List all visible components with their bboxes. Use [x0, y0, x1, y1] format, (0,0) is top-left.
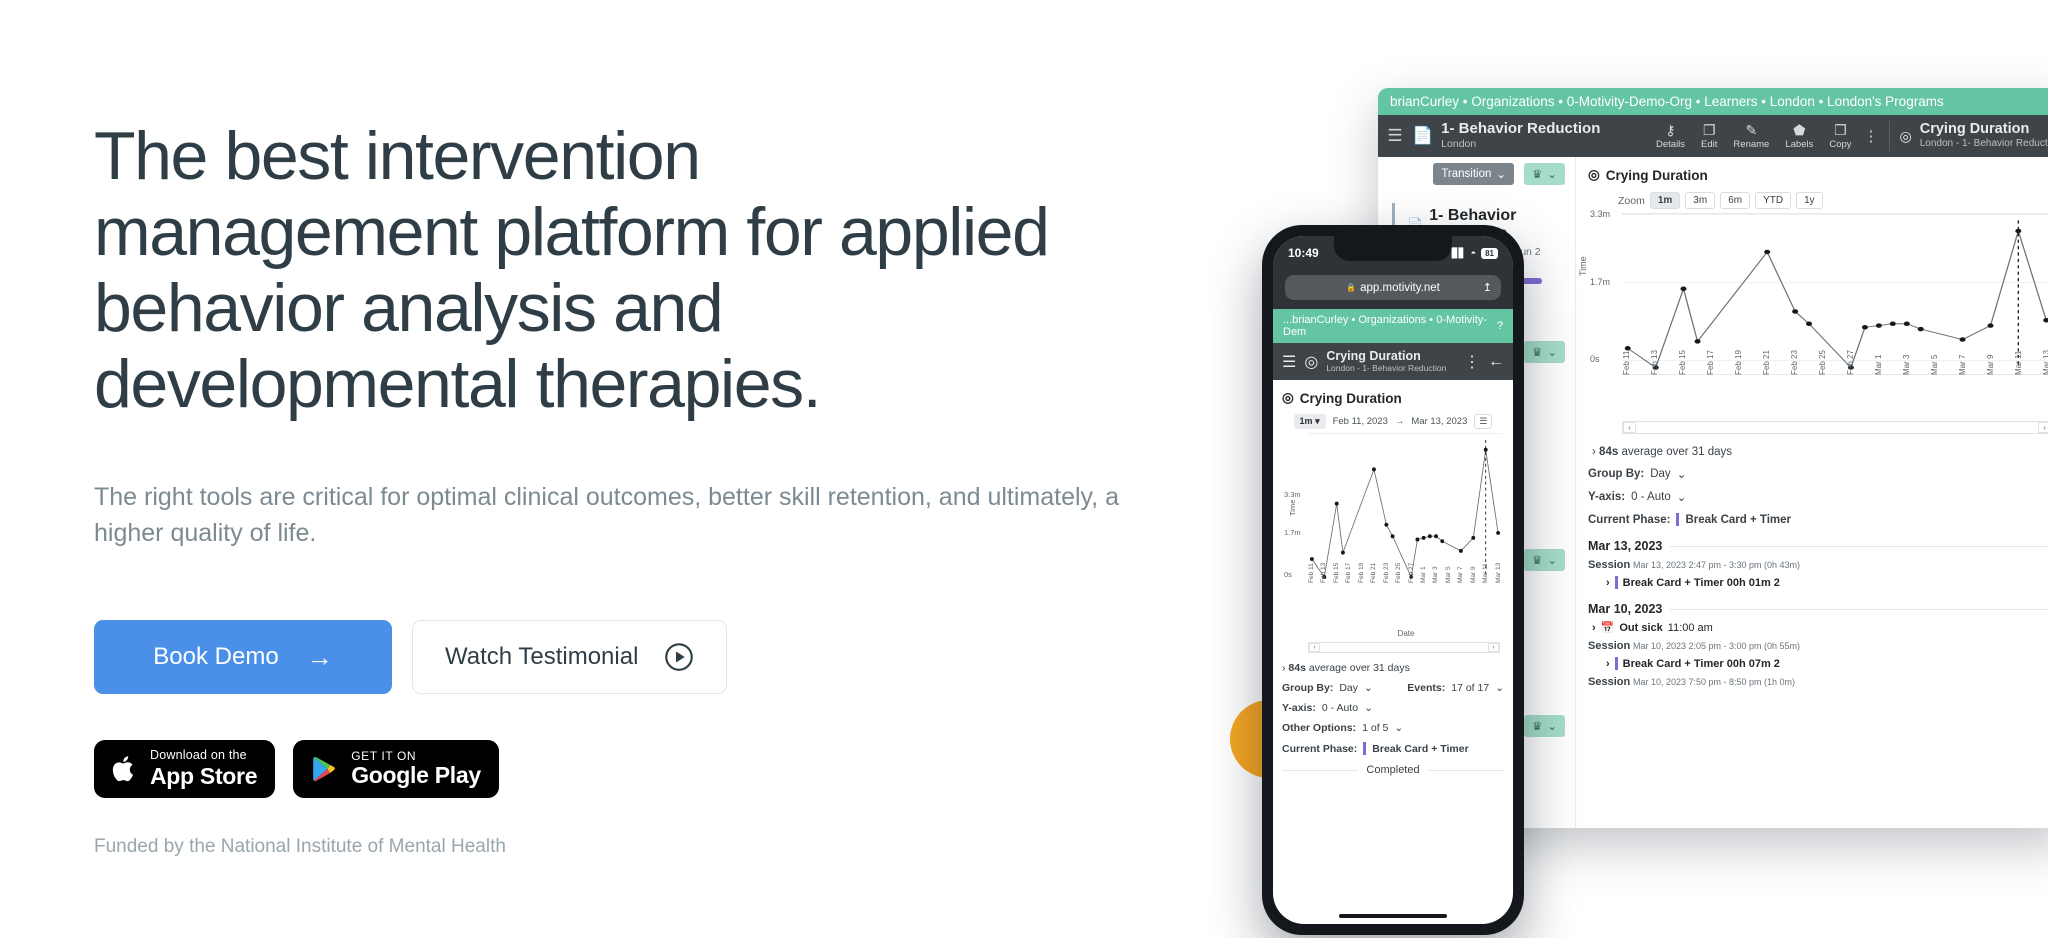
chip-transition[interactable]: Transition ⌄	[1433, 163, 1514, 185]
x-axis-title: Date	[1308, 629, 1504, 638]
phase-color-swatch	[1615, 657, 1618, 670]
session-label: Session	[1588, 640, 1630, 652]
session-day-label: Mar 10, 2023	[1588, 602, 1662, 616]
session-phase-label: Break Card + Timer 00h 07m 2	[1623, 658, 1780, 670]
hero-page: The best intervention management platfor…	[0, 0, 2048, 938]
session-detail: Mar 10, 2023 2:05 pm - 3:00 pm (0h 55m)	[1633, 641, 1800, 651]
y-tick-top: 3.3m	[1590, 209, 1610, 219]
phone-average-value: 84s	[1288, 662, 1306, 674]
completed-divider: Completed	[1282, 764, 1504, 776]
phone-home-indicator	[1339, 914, 1447, 918]
y-axis-label: Y-axis:	[1588, 491, 1625, 503]
chip-trophy-3[interactable]: ♛ ⌄	[1524, 549, 1565, 571]
app-store-badge[interactable]: Download on the App Store	[94, 740, 275, 798]
help-icon[interactable]: ?	[1497, 320, 1503, 332]
detail-panel-subtitle: London - 1- Behavior Reduction	[1920, 138, 2048, 150]
range-start[interactable]: Feb 11, 2023	[1333, 416, 1388, 427]
cta-row: Book Demo → Watch Testimonial	[94, 620, 1244, 694]
average-value: 84s	[1599, 446, 1618, 458]
funding-note: Funded by the National Institute of Ment…	[94, 836, 1244, 858]
arrow-right-icon: →	[307, 644, 333, 670]
y-tick-mid: 1.7m	[1590, 277, 1610, 287]
phone-average-text: average over 31 days	[1309, 662, 1410, 674]
group-by-value: Day	[1650, 468, 1670, 480]
back-icon[interactable]: ←	[1488, 353, 1504, 371]
chart-title: Crying Duration	[1606, 168, 1708, 183]
url-text: app.motivity.net	[1360, 282, 1440, 294]
status-time: 10:49	[1288, 246, 1319, 260]
phone-chart-svg	[1308, 434, 1502, 583]
edit-label: Edit	[1701, 139, 1717, 150]
expand-chevron-icon[interactable]: ›	[1592, 622, 1596, 634]
trophy-icon: ♛	[1532, 553, 1542, 567]
chevron-down-icon: ⌄	[1364, 682, 1373, 694]
note-label: Out sick	[1619, 622, 1662, 634]
phone-chart-plot[interactable]: 3.3m 1.7m 0s Time	[1308, 433, 1502, 583]
labels-button[interactable]: ⬟ Labels	[1785, 123, 1813, 150]
chip-trophy-4[interactable]: ♛ ⌄	[1524, 715, 1565, 737]
rename-icon: ✎	[1746, 123, 1758, 137]
store-badges: Download on the App Store GET IT ON Goog…	[94, 740, 1244, 798]
detail-panel-title: Crying Duration	[1920, 122, 2048, 138]
rename-label: Rename	[1733, 139, 1769, 150]
labels-label: Labels	[1785, 139, 1813, 150]
page-title: The best intervention management platfor…	[94, 118, 1054, 423]
expand-chevron-icon[interactable]: ›	[1592, 446, 1596, 458]
breadcrumb[interactable]: brianCurley • Organizations • 0-Motivity…	[1378, 88, 2048, 115]
y-axis-control[interactable]: Y-axis: 0 - Auto ⌄	[1588, 490, 2048, 504]
status-indicators: ▊▋ ◓ 81	[1452, 248, 1498, 259]
divider	[1670, 546, 2048, 547]
document-icon: 📄	[1412, 126, 1433, 146]
divider	[1670, 609, 2048, 610]
target-icon: ◎	[1900, 128, 1912, 145]
program-title: 1- Behavior Reduction	[1441, 121, 1600, 138]
y-axis-value: 0 - Auto	[1322, 702, 1358, 714]
note-time: 11:00 am	[1668, 622, 1713, 634]
zoom-label: Zoom	[1618, 195, 1645, 207]
trophy-icon: ♛	[1532, 345, 1542, 359]
phone-date-range-row: 1m ▾ Feb 11, 2023 → Mar 13, 2023 ☰	[1282, 414, 1504, 429]
scroll-left-button[interactable]: ‹	[1309, 643, 1320, 652]
edit-button[interactable]: ❐ Edit	[1701, 123, 1717, 150]
details-label: Details	[1656, 139, 1685, 150]
google-play-big-label: Google Play	[351, 763, 481, 787]
transition-chip-row: Transition ⌄ ♛ ⌄	[1433, 163, 1565, 185]
hamburger-icon[interactable]: ☰	[1378, 126, 1412, 146]
session-day-header: Mar 10, 2023	[1588, 602, 2048, 616]
y-tick-mid: 1.7m	[1284, 528, 1301, 537]
app-store-small-label: Download on the	[150, 749, 257, 762]
zoom-ytd-button[interactable]: YTD	[1755, 192, 1791, 209]
phone-nav-title: Crying Duration	[1326, 350, 1446, 364]
chip-trophy-2[interactable]: ♛ ⌄	[1524, 341, 1565, 363]
group-by-label: Group By:	[1588, 468, 1644, 480]
cellular-icon: ▊▋	[1452, 248, 1466, 259]
google-play-badge[interactable]: GET IT ON Google Play	[293, 740, 499, 798]
trophy-icon: ♛	[1532, 719, 1542, 733]
play-circle-icon	[664, 642, 694, 672]
chevron-down-icon: ⌄	[1394, 722, 1403, 734]
session-day-label: Mar 13, 2023	[1588, 539, 1662, 553]
hero-section: The best intervention management platfor…	[94, 118, 1244, 858]
other-options-value: 1 of 5	[1362, 722, 1388, 734]
phone-y-axis-control[interactable]: Y-axis: 0 - Auto ⌄	[1282, 702, 1504, 714]
phone-average-summary[interactable]: › 84s average over 31 days	[1282, 662, 1504, 674]
google-play-small-label: GET IT ON	[351, 750, 481, 763]
google-play-icon	[311, 754, 339, 784]
chevron-down-icon: ⌄	[1547, 553, 1557, 567]
wifi-icon: ◓	[1471, 248, 1476, 258]
note-row[interactable]: › 📅 Out sick 11:00 am	[1592, 621, 2048, 634]
zoom-6m-button[interactable]: 6m	[1720, 192, 1750, 209]
range-chip[interactable]: 1m ▾	[1294, 414, 1326, 429]
edit-icon: ❐	[1703, 123, 1716, 137]
copy-icon: ❐	[1834, 123, 1847, 137]
session-phase-label: Break Card + Timer 00h 01m 2	[1623, 577, 1780, 589]
y-axis-title: Time	[1578, 256, 1588, 276]
phone-other-options-control[interactable]: Other Options: 1 of 5 ⌄	[1282, 722, 1504, 734]
current-phase-label: Current Phase:	[1282, 743, 1357, 755]
chip-transition-label: Transition	[1441, 168, 1491, 180]
chart-detail-panel: ◎ Crying Duration Zoom 1m 3m 6m YTD 1y T…	[1576, 157, 2048, 828]
scroll-left-button[interactable]: ‹	[1623, 422, 1636, 433]
detail-panel-header: ◎ Crying Duration London - 1- Behavior R…	[1900, 122, 2048, 150]
zoom-3m-button[interactable]: 3m	[1685, 192, 1715, 209]
session-day-header: Mar 13, 2023	[1588, 539, 2048, 553]
copy-button[interactable]: ❐ Copy	[1829, 123, 1851, 150]
chevron-down-icon: ⌄	[1547, 719, 1557, 733]
chevron-down-icon: ⌄	[1364, 702, 1373, 714]
y-axis-value: 0 - Auto	[1631, 491, 1671, 503]
target-icon: ◎	[1304, 352, 1318, 372]
copy-label: Copy	[1829, 139, 1851, 150]
watch-testimonial-label: Watch Testimonial	[445, 643, 638, 671]
y-tick-bottom: 0s	[1284, 570, 1292, 579]
desktop-chart-xticks: Feb 11Feb 13Feb 15Feb 17Feb 19Feb 21Feb …	[1622, 375, 2048, 409]
details-icon: ⚷	[1665, 123, 1675, 137]
phone-section-title-row: ◎ Crying Duration	[1282, 390, 1504, 406]
group-by-value: Day	[1339, 682, 1358, 694]
program-subtitle: London	[1441, 138, 1600, 151]
list-options-icon[interactable]: ☰	[1474, 414, 1492, 429]
phase-color-swatch	[1363, 742, 1366, 755]
current-phase-value: Break Card + Timer	[1372, 743, 1468, 755]
kebab-menu-icon[interactable]: ⋮	[1864, 127, 1879, 145]
y-tick-bottom: 0s	[1590, 354, 1600, 364]
phone-content: ◎ Crying Duration 1m ▾ Feb 11, 2023 → Ma…	[1273, 380, 1513, 786]
lock-icon: 🔒	[1346, 283, 1356, 292]
current-phase-value: Break Card + Timer	[1685, 514, 1791, 526]
phone-nav-bar: ☰ ◎ Crying Duration London - 1- Behavior…	[1273, 343, 1513, 380]
session-detail: Mar 13, 2023 2:47 pm - 3:30 pm (0h 43m)	[1633, 560, 1800, 570]
phone-mockup: 10:49 ▊▋ ◓ 81 🔒 app.motivity.net ↥ ..	[1262, 225, 1524, 935]
phone-current-phase-row: Current Phase: Break Card + Timer	[1282, 742, 1504, 755]
group-by-label: Group By:	[1282, 682, 1333, 694]
chevron-down-icon: ⌄	[1547, 345, 1557, 359]
session-row[interactable]: Session Mar 13, 2023 2:47 pm - 3:30 pm (…	[1588, 559, 2048, 571]
book-demo-label: Book Demo	[153, 643, 278, 671]
url-field[interactable]: 🔒 app.motivity.net ↥	[1285, 275, 1501, 300]
toolbar-divider	[1889, 121, 1890, 151]
phone-notch	[1334, 236, 1452, 261]
phase-color-swatch	[1615, 576, 1618, 589]
trophy-icon: ♛	[1532, 167, 1542, 181]
average-text: average over 31 days	[1621, 446, 1732, 458]
toolbar-actions: ⚷ Details ❐ Edit ✎ Rename ⬟ Labels	[1656, 123, 1852, 150]
phone-url-bar[interactable]: 🔒 app.motivity.net ↥	[1273, 270, 1513, 309]
chip-trophy-1[interactable]: ♛ ⌄	[1524, 163, 1565, 185]
divider	[1428, 770, 1504, 771]
group-by-control[interactable]: Group By: Day ⌄	[1588, 467, 2048, 481]
product-screenshot-composition: brianCurley • Organizations • 0-Motivity…	[1240, 0, 2048, 938]
expand-chevron-icon[interactable]: ›	[1606, 658, 1610, 670]
zoom-1m-button[interactable]: 1m	[1650, 192, 1680, 209]
session-row[interactable]: Session Mar 10, 2023 7:50 pm - 8:50 pm (…	[1588, 676, 2048, 688]
average-summary[interactable]: › 84s average over 31 days	[1592, 446, 2048, 458]
events-label: Events:	[1407, 682, 1445, 694]
session-label: Session	[1588, 559, 1630, 571]
chart-scrollbar[interactable]: ‹ ›	[1622, 421, 2048, 434]
apple-icon	[112, 754, 138, 784]
phone-chart-scrollbar[interactable]: ‹ ›	[1308, 642, 1500, 653]
current-phase-row: Current Phase: Break Card + Timer	[1588, 513, 2048, 526]
completed-label: Completed	[1366, 764, 1419, 776]
divider	[1282, 770, 1358, 771]
details-button[interactable]: ⚷ Details	[1656, 123, 1685, 150]
phone-breadcrumb[interactable]: ...brianCurley • Organizations • 0-Motiv…	[1273, 309, 1513, 343]
chevron-down-icon: ⌄	[1547, 167, 1557, 181]
phone-nav-subtitle: London - 1- Behavior Reduction	[1326, 363, 1446, 373]
share-icon[interactable]: ↥	[1483, 281, 1492, 294]
target-icon: ◎	[1588, 167, 1600, 183]
labels-icon: ⬟	[1793, 123, 1805, 137]
session-row[interactable]: Session Mar 10, 2023 2:05 pm - 3:00 pm (…	[1588, 640, 2048, 652]
x-tick-label: Mar 13	[1495, 574, 1513, 583]
y-axis-title: Time	[1288, 500, 1297, 516]
y-axis-label: Y-axis:	[1282, 702, 1316, 714]
y-tick-top: 3.3m	[1284, 490, 1301, 499]
arrow-right-icon: →	[1395, 416, 1405, 427]
watch-testimonial-button[interactable]: Watch Testimonial	[412, 620, 727, 694]
hero-subheading: The right tools are critical for optimal…	[94, 479, 1194, 552]
chevron-down-icon: ⌄	[1496, 167, 1506, 181]
phone-screen: 10:49 ▊▋ ◓ 81 🔒 app.motivity.net ↥ ..	[1273, 236, 1513, 924]
range-end[interactable]: Mar 13, 2023	[1411, 416, 1467, 427]
chart-title-row: ◎ Crying Duration	[1588, 167, 2048, 183]
program-header: 📄 1- Behavior Reduction London	[1412, 121, 1650, 150]
target-icon: ◎	[1282, 390, 1294, 406]
app-toolbar: ☰ 📄 1- Behavior Reduction London ⚷ Detai…	[1378, 115, 2048, 157]
kebab-menu-icon[interactable]: ⋮	[1464, 352, 1480, 372]
zoom-controls: Zoom 1m 3m 6m YTD 1y	[1618, 192, 2048, 209]
other-options-label: Other Options:	[1282, 722, 1356, 734]
chevron-down-icon: ⌄	[1495, 682, 1504, 694]
session-detail: Mar 10, 2023 7:50 pm - 8:50 pm (1h 0m)	[1633, 677, 1795, 687]
phone-breadcrumb-text: ...brianCurley • Organizations • 0-Motiv…	[1283, 314, 1497, 338]
range-chip-label: 1m	[1300, 416, 1313, 426]
x-tick-label: Mar 13	[2042, 361, 2048, 375]
rename-button[interactable]: ✎ Rename	[1733, 123, 1769, 150]
scroll-right-button[interactable]: ›	[1488, 643, 1499, 652]
expand-chevron-icon[interactable]: ›	[1606, 577, 1610, 589]
zoom-1y-button[interactable]: 1y	[1796, 192, 1823, 209]
chevron-down-icon: ⌄	[1677, 490, 1687, 504]
chevron-down-icon: ⌄	[1677, 467, 1687, 481]
session-phase-row[interactable]: › Break Card + Timer 00h 07m 2	[1606, 657, 2048, 670]
phone-chart-xticks: Feb 11Feb 13Feb 15Feb 17Feb 19Feb 21Feb …	[1308, 583, 1504, 609]
expand-chevron-icon[interactable]: ›	[1282, 662, 1286, 674]
phase-color-swatch	[1676, 513, 1679, 526]
session-label: Session	[1588, 676, 1630, 688]
battery-indicator: 81	[1481, 248, 1498, 259]
scroll-right-button[interactable]: ›	[2038, 422, 2048, 433]
book-demo-button[interactable]: Book Demo →	[94, 620, 392, 694]
hamburger-icon[interactable]: ☰	[1282, 352, 1296, 372]
session-phase-row[interactable]: › Break Card + Timer 00h 01m 2	[1606, 576, 2048, 589]
phone-group-by-control[interactable]: Group By: Day ⌄ Events: 17 of 17 ⌄	[1282, 682, 1504, 694]
calendar-icon: 📅	[1601, 621, 1615, 634]
current-phase-label: Current Phase:	[1588, 514, 1670, 526]
events-value: 17 of 17	[1451, 682, 1489, 694]
phone-section-title: Crying Duration	[1300, 391, 1402, 406]
app-store-big-label: App Store	[150, 764, 257, 788]
